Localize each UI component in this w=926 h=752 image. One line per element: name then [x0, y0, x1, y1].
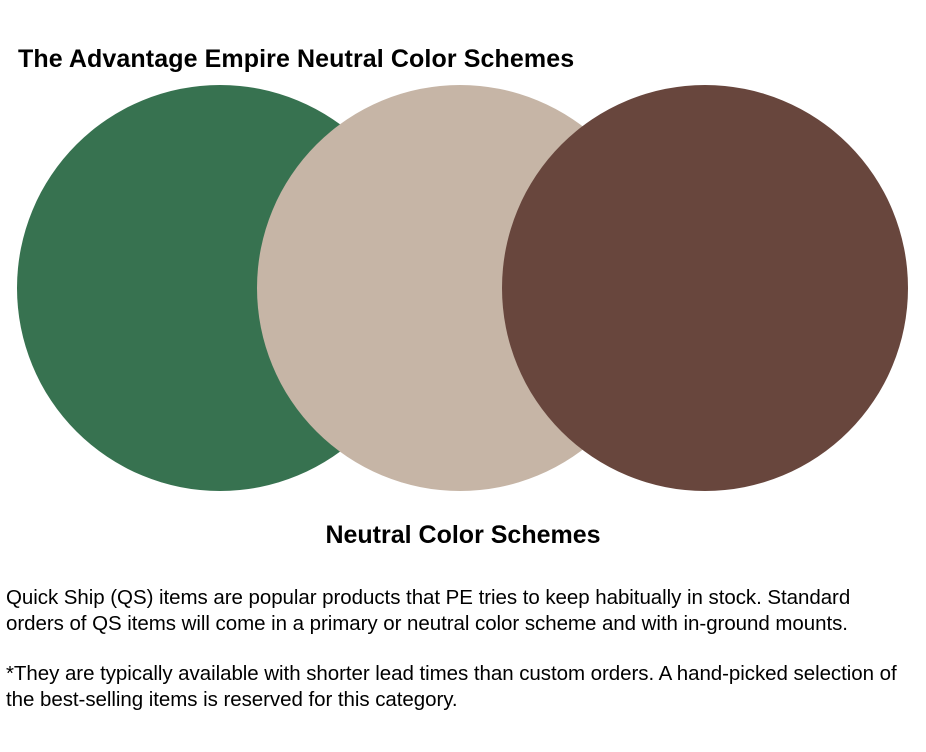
body-paragraph-1: Quick Ship (QS) items are popular produc… — [6, 585, 906, 636]
swatch-caption: Neutral Color Schemes — [0, 519, 926, 551]
page-title: The Advantage Empire Neutral Color Schem… — [18, 44, 574, 74]
body-copy: Quick Ship (QS) items are popular produc… — [6, 585, 906, 712]
brown-swatch — [502, 85, 908, 491]
paragraph-spacer — [6, 636, 906, 661]
body-paragraph-2: *They are typically available with short… — [6, 661, 906, 712]
color-swatch-group — [0, 85, 926, 493]
